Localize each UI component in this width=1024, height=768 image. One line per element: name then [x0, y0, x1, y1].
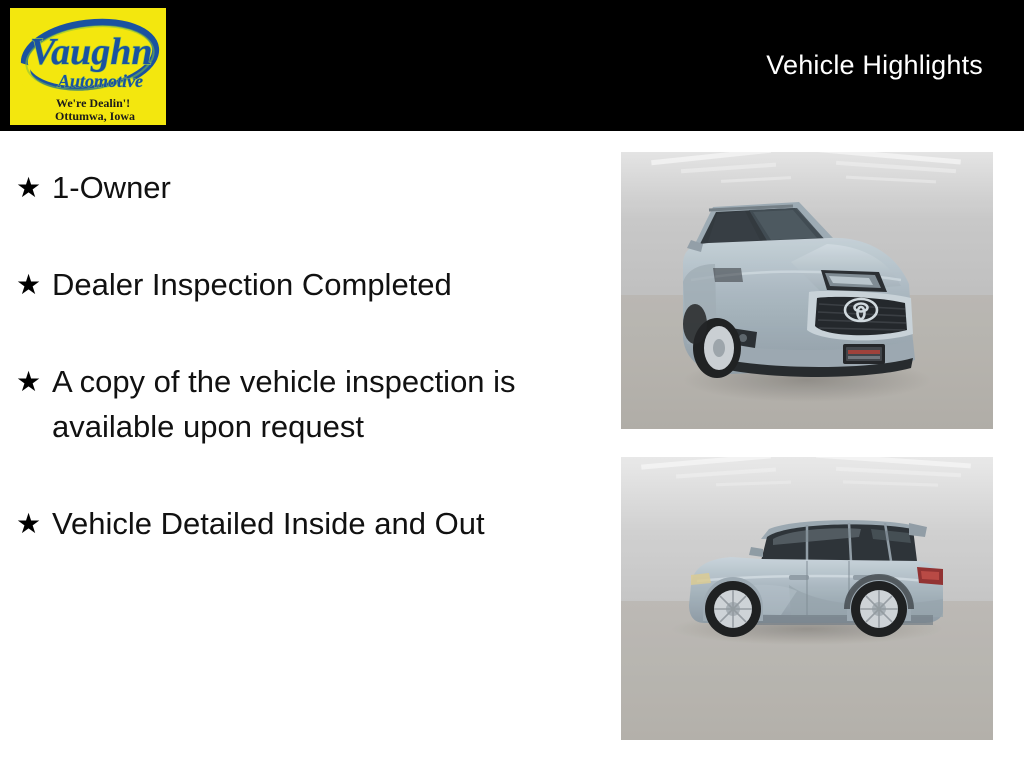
star-icon: ★ — [16, 165, 52, 210]
list-item: ★ Vehicle Detailed Inside and Out — [16, 501, 600, 546]
logo-tagline-line2: Ottumwa, Iowa — [55, 109, 135, 123]
dealer-logo-graphic: Vaughn Automotive We're Dealin'! Ottumwa… — [10, 8, 166, 125]
list-item: ★ 1-Owner — [16, 165, 600, 210]
vehicle-highlights-slide: Vehicle Highlights Vaughn Automotive We'… — [0, 0, 1024, 768]
dealer-logo: Vaughn Automotive We're Dealin'! Ottumwa… — [10, 8, 166, 125]
list-item-label: Dealer Inspection Completed — [52, 262, 552, 307]
list-item-label: A copy of the vehicle inspection is avai… — [52, 359, 552, 449]
star-icon: ★ — [16, 501, 52, 546]
logo-subtitle: Automotive — [57, 71, 143, 91]
logo-tagline-line1: We're Dealin'! — [56, 96, 130, 110]
list-item: ★ Dealer Inspection Completed — [16, 262, 600, 307]
logo-wordmark: Vaughn — [30, 31, 153, 73]
star-icon: ★ — [16, 359, 52, 404]
list-item-label: 1-Owner — [52, 165, 552, 210]
star-icon: ★ — [16, 262, 52, 307]
vehicle-photo-front[interactable] — [621, 152, 993, 429]
list-item: ★ A copy of the vehicle inspection is av… — [16, 359, 600, 449]
vehicle-front-image — [621, 152, 993, 429]
vehicle-side-image — [621, 457, 993, 740]
highlights-list: ★ 1-Owner ★ Dealer Inspection Completed … — [0, 131, 610, 768]
page-title: Vehicle Highlights — [766, 50, 983, 81]
vehicle-photo-side[interactable] — [621, 457, 993, 740]
list-item-label: Vehicle Detailed Inside and Out — [52, 501, 552, 546]
